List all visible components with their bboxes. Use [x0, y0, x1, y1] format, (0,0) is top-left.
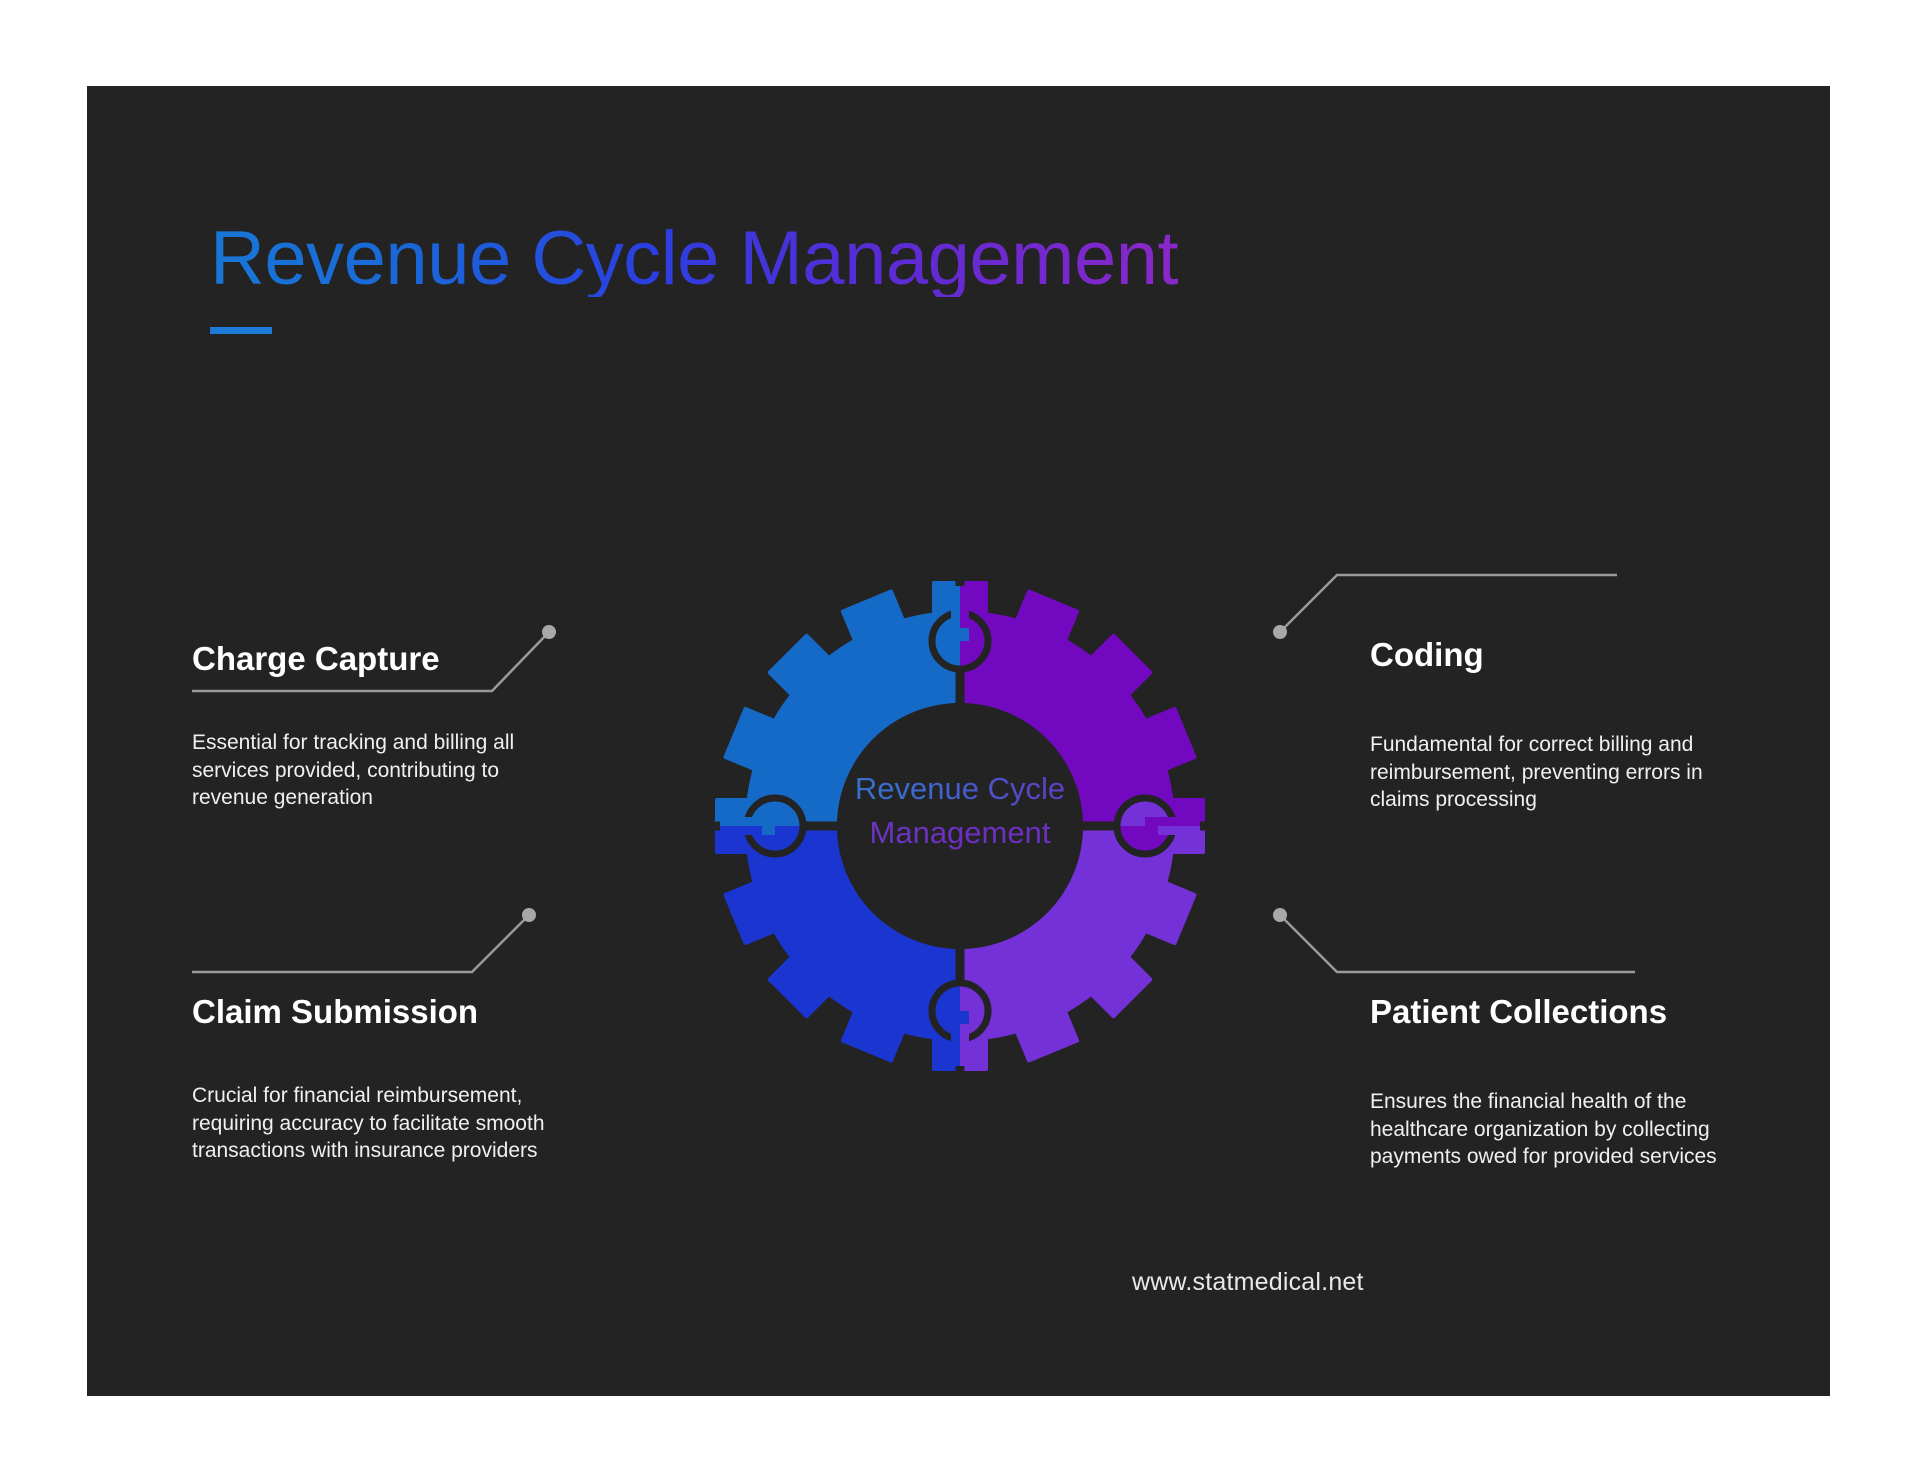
block-heading-claim-submission: Claim Submission	[192, 994, 582, 1030]
page-title: Revenue Cycle Management	[210, 221, 1178, 297]
connector-line-coding	[1280, 575, 1617, 632]
block-body-coding: Fundamental for correct billing and reim…	[1370, 731, 1720, 813]
block-body-charge-capture: Essential for tracking and billing all s…	[192, 729, 532, 811]
title-block: Revenue Cycle Management	[210, 221, 1178, 334]
four-quadrant-gear-icon	[680, 546, 1240, 1106]
connector-dot-patient-collections	[1273, 908, 1287, 922]
block-body-patient-collections: Ensures the financial health of the heal…	[1370, 1088, 1730, 1170]
block-heading-patient-collections: Patient Collections	[1370, 994, 1760, 1030]
block-heading-coding: Coding	[1370, 637, 1760, 673]
connector-dot-coding	[1273, 625, 1287, 639]
info-block-claim-submission: Claim Submission Crucial for financial r…	[192, 994, 582, 1164]
info-block-patient-collections: Patient Collections Ensures the financia…	[1370, 994, 1760, 1170]
connector-dot-claim-submission	[522, 908, 536, 922]
infographic-canvas: Revenue Cycle Management Charge Capture …	[0, 0, 1920, 1484]
gear-hub	[837, 703, 1083, 949]
title-underline-rule	[210, 327, 272, 334]
footer-website-url[interactable]: www.statmedical.net	[1132, 1268, 1364, 1297]
info-block-charge-capture: Charge Capture Essential for tracking an…	[192, 641, 582, 811]
connector-line-patient-collections	[1280, 915, 1635, 972]
block-heading-charge-capture: Charge Capture	[192, 641, 582, 677]
info-block-coding: Coding Fundamental for correct billing a…	[1370, 637, 1760, 813]
gear-graphic: Revenue Cycle Management	[680, 546, 1240, 1106]
connector-dot-charge-capture	[542, 625, 556, 639]
dark-panel: Revenue Cycle Management Charge Capture …	[87, 86, 1830, 1396]
connector-line-claim-submission	[192, 915, 529, 972]
block-body-claim-submission: Crucial for financial reimbursement, req…	[192, 1082, 562, 1164]
